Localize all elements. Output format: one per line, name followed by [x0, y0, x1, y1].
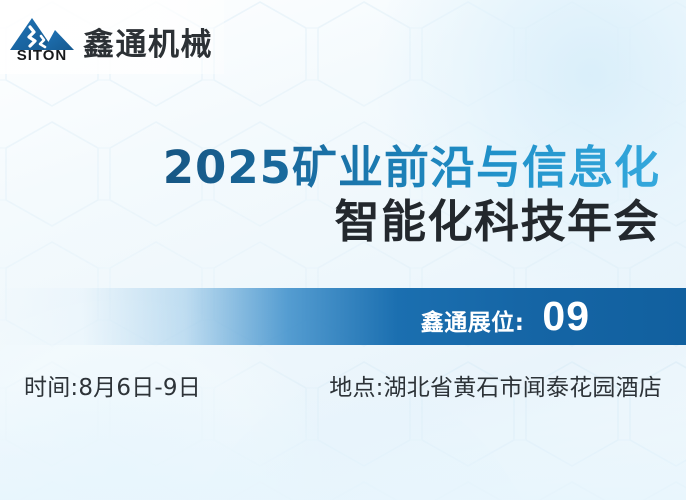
headline-line-1: 2025矿业前沿与信息化 — [0, 143, 660, 193]
hexagon-pattern-background — [0, 0, 686, 500]
mountain-peak-icon: SITON — [10, 16, 74, 62]
logo-chinese-name: 鑫通机械 — [83, 30, 213, 62]
booth-banner: 鑫通展位: 09 — [0, 288, 686, 345]
poster-headline: 2025矿业前沿与信息化 智能化科技年会 — [0, 143, 660, 248]
brand-logo: SITON 鑫通机械 — [10, 16, 213, 62]
headline-line-2: 智能化科技年会 — [0, 195, 660, 248]
logo-latin-name: SITON — [10, 47, 74, 64]
booth-info: 鑫通展位: 09 — [421, 296, 590, 337]
booth-number: 09 — [542, 296, 590, 337]
event-location: 地点:湖北省黄石市闻泰花园酒店 — [329, 368, 662, 402]
booth-label: 鑫通展位: — [421, 303, 525, 337]
event-time: 时间:8月6日-9日 — [24, 368, 201, 402]
event-poster: SITON 鑫通机械 2025矿业前沿与信息化 智能化科技年会 鑫通展位: 09… — [0, 0, 686, 500]
event-meta-row: 时间:8月6日-9日 地点:湖北省黄石市闻泰花园酒店 — [24, 368, 662, 402]
